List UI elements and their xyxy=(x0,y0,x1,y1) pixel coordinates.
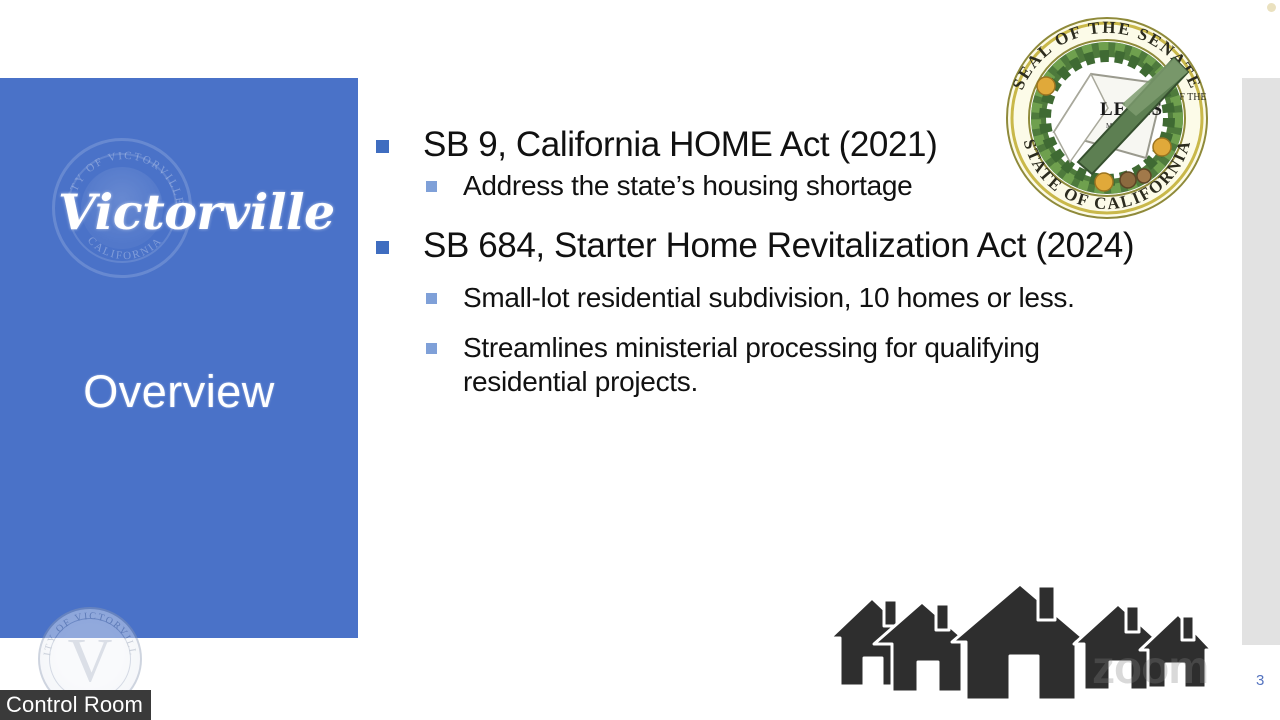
bullet-item: Small-lot residential subdivision, 10 ho… xyxy=(426,281,1166,315)
screen-share-edge-strip xyxy=(1242,78,1280,645)
slide-section-title: Overview xyxy=(0,366,358,418)
screen-share-stage: CITY OF VICTORVILLE CALIFORNIA Victorvil… xyxy=(0,0,1280,720)
bullet-item: Streamlines ministerial processing for q… xyxy=(426,331,1166,399)
bullet-item: SB 684, Starter Home Revitalization Act … xyxy=(376,225,1166,266)
bullet-text: Small-lot residential subdivision, 10 ho… xyxy=(463,281,1075,315)
victorville-wordmark: Victorville xyxy=(58,183,338,241)
zoom-watermark: zoom xyxy=(1092,640,1208,694)
bullet-text: Address the state’s housing shortage xyxy=(463,169,912,203)
bullet-item: SB 9, California HOME Act (2021) xyxy=(376,124,1166,165)
bullet-item: Address the state’s housing shortage xyxy=(426,169,1166,203)
bullet-marker-square-icon xyxy=(426,181,437,192)
bullet-marker-square-icon xyxy=(426,343,437,354)
bullet-text: Streamlines ministerial processing for q… xyxy=(463,331,1103,399)
slide-sidebar-panel: CITY OF VICTORVILLE CALIFORNIA Victorvil… xyxy=(0,78,358,638)
top-right-artifact xyxy=(1267,3,1276,12)
slide-body-content: SB 9, California HOME Act (2021) Address… xyxy=(376,124,1166,405)
bullet-marker-square-icon xyxy=(376,140,389,153)
bullet-marker-square-icon xyxy=(376,241,389,254)
bullet-marker-square-icon xyxy=(426,293,437,304)
participant-name-label[interactable]: Control Room xyxy=(0,690,151,720)
slide-page-number: 3 xyxy=(1256,672,1264,689)
bullet-text: SB 684, Starter Home Revitalization Act … xyxy=(423,225,1134,266)
bullet-text: SB 9, California HOME Act (2021) xyxy=(423,124,937,165)
